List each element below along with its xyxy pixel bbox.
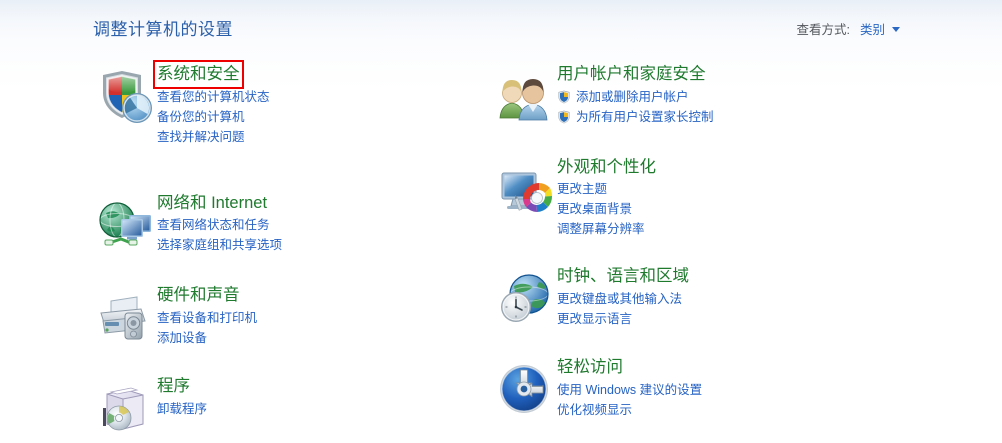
link-change-theme[interactable]: 更改主题 [557,179,895,199]
page-title: 调整计算机的设置 [93,15,233,40]
category-links: 更改键盘或其他输入法 更改显示语言 [557,289,895,329]
link-set-parental-controls[interactable]: 为所有用户设置家长控制 [557,107,895,127]
category-network-and-internet[interactable]: 网络和 Internet 查看网络状态和任务 选择家庭组和共享选项 [95,193,495,256]
category-links: 添加或删除用户帐户 [557,87,895,127]
link-label: 为所有用户设置家长控制 [576,110,714,124]
category-title[interactable]: 外观和个性化 [557,157,656,178]
link-optimize-visual-display[interactable]: 优化视频显示 [557,400,895,420]
link-homegroup-sharing-options[interactable]: 选择家庭组和共享选项 [157,235,495,255]
category-links: 更改主题 更改桌面背景 调整屏幕分辨率 [557,179,895,239]
link-backup-computer[interactable]: 备份您的计算机 [157,107,495,127]
link-change-display-language[interactable]: 更改显示语言 [557,309,895,329]
category-hardware-and-sound[interactable]: 硬件和声音 查看设备和打印机 添加设备 [95,285,495,348]
security-shield-icon [97,68,153,124]
category-programs[interactable]: 程序 卸载程序 [95,376,495,434]
category-system-and-security[interactable]: 系统和安全 查看您的计算机状态 备份您的计算机 查找并解决问题 [95,64,495,147]
clock-globe-icon [497,270,553,326]
category-user-accounts-and-family-safety[interactable]: 用户帐户和家庭安全 [495,64,895,127]
category-clock-language-and-region[interactable]: 时钟、语言和区域 更改键盘或其他输入法 更改显示语言 [495,266,895,329]
category-title[interactable]: 程序 [157,376,190,397]
link-view-devices-and-printers[interactable]: 查看设备和打印机 [157,308,495,328]
link-change-desktop-background[interactable]: 更改桌面背景 [557,199,895,219]
category-column-right: 用户帐户和家庭安全 [495,64,895,420]
link-label: 添加或删除用户帐户 [576,90,689,104]
category-links: 查看您的计算机状态 备份您的计算机 查找并解决问题 [157,87,495,147]
category-column-left: 系统和安全 查看您的计算机状态 备份您的计算机 查找并解决问题 [95,64,495,434]
ease-of-access-icon [497,361,553,417]
category-ease-of-access[interactable]: 轻松访问 使用 Windows 建议的设置 优化视频显示 [495,357,895,420]
category-links: 卸载程序 [157,399,495,419]
category-title[interactable]: 网络和 Internet [157,193,267,214]
view-by-label: 查看方式: [797,19,850,38]
link-find-and-fix-problems[interactable]: 查找并解决问题 [157,127,495,147]
view-by-value[interactable]: 类别 [860,19,885,38]
category-title[interactable]: 时钟、语言和区域 [557,266,689,287]
control-panel-window: 调整计算机的设置 查看方式: 类别 [0,0,1002,443]
link-add-device[interactable]: 添加设备 [157,328,495,348]
link-use-windows-recommended-settings[interactable]: 使用 Windows 建议的设置 [557,380,895,400]
category-title[interactable]: 系统和安全 [157,64,240,85]
category-title[interactable]: 硬件和声音 [157,285,240,306]
view-by-selector[interactable]: 查看方式: 类别 [797,19,901,38]
category-links: 查看网络状态和任务 选择家庭组和共享选项 [157,215,495,255]
appearance-monitor-icon [497,161,553,217]
link-check-computer-status[interactable]: 查看您的计算机状态 [157,87,495,107]
link-change-keyboard-or-input-method[interactable]: 更改键盘或其他输入法 [557,289,895,309]
category-title[interactable]: 用户帐户和家庭安全 [557,64,706,85]
category-links: 查看设备和打印机 添加设备 [157,308,495,348]
uac-shield-icon [557,90,571,104]
category-links: 使用 Windows 建议的设置 优化视频显示 [557,380,895,420]
network-globe-icon [97,197,153,253]
link-add-remove-user-accounts[interactable]: 添加或删除用户帐户 [557,87,895,107]
category-title[interactable]: 轻松访问 [557,357,623,378]
users-accounts-icon [497,68,553,124]
chevron-down-icon[interactable] [892,27,900,32]
link-uninstall-program[interactable]: 卸载程序 [157,399,495,419]
uac-shield-icon [557,110,571,124]
category-appearance-and-personalization[interactable]: 外观和个性化 更改主题 更改桌面背景 调整屏幕分辨率 [495,157,895,240]
programs-box-icon [97,380,153,436]
link-view-network-status[interactable]: 查看网络状态和任务 [157,215,495,235]
link-adjust-screen-resolution[interactable]: 调整屏幕分辨率 [557,219,895,239]
printer-hardware-icon [97,289,153,345]
